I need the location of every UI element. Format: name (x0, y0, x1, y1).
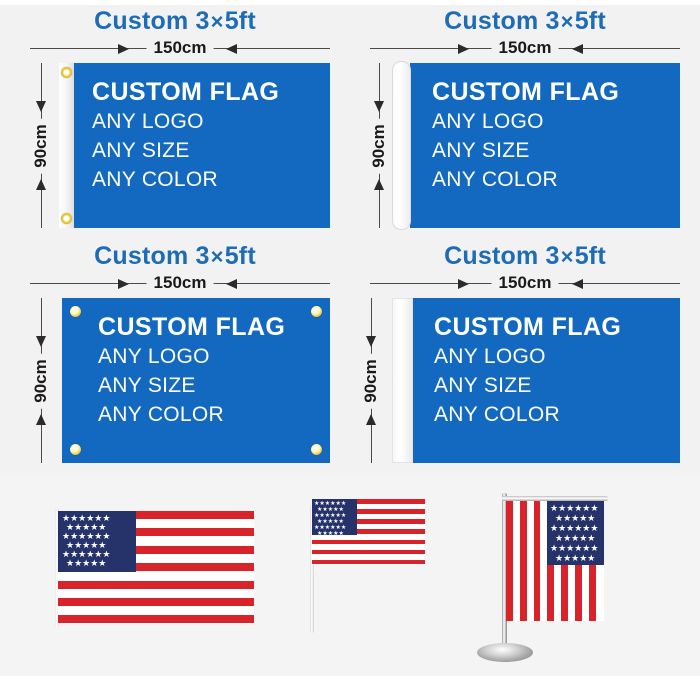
flag-spec-grid: Custom 3×5ft 150cm 90cm CUSTOM FLAG ANY … (0, 5, 700, 475)
panel-title: Custom 3×5ft (0, 242, 350, 271)
flag-line: ANY SIZE (434, 371, 672, 400)
svg-text:★★★★★: ★★★★★ (555, 533, 595, 543)
flag-line: ANY LOGO (432, 107, 672, 136)
grommet-icon (70, 444, 81, 455)
flag-line: ANY LOGO (98, 342, 322, 371)
grommet-icon (311, 444, 322, 455)
arrow-left-icon (572, 279, 583, 289)
width-label: 150cm (492, 38, 559, 57)
flag-line: ANY COLOR (432, 165, 672, 194)
width-dimension: 150cm (30, 38, 330, 58)
flag-line: ANY LOGO (92, 107, 322, 136)
width-dimension: 150cm (370, 38, 680, 58)
arrow-right-icon (118, 279, 129, 289)
flag-headline: CUSTOM FLAG (98, 312, 322, 342)
width-label: 150cm (147, 273, 214, 292)
panel-title-size: 5ft (225, 7, 256, 35)
flag-text-block: CUSTOM FLAG ANY LOGO ANY SIZE ANY COLOR (432, 77, 672, 194)
arrow-down-icon (36, 101, 46, 112)
flag-line: ANY COLOR (92, 165, 322, 194)
flag-text-block: CUSTOM FLAG ANY LOGO ANY SIZE ANY COLOR (92, 77, 322, 194)
product-photo-row: ★★★★★★ ★★★★★ ★★★★★★ ★★★★★ ★★★★★★ ★★★★★ (0, 475, 700, 676)
arrow-up-icon (366, 414, 376, 425)
panel-title-size: 5ft (575, 242, 606, 270)
width-label: 150cm (492, 273, 559, 292)
us-flag-hand-stick-icon: ★★★★★★ ★★★★★ ★★★★★★ ★★★★★ ★★★★★★ ★★★★★ (312, 499, 425, 565)
flag-line: ANY SIZE (432, 136, 672, 165)
us-flag-desk-stand-icon: ★★★★★★ ★★★★★ ★★★★★★ ★★★★★ ★★★★★★ ★★★★★ (506, 501, 604, 621)
flag-headline: CUSTOM FLAG (92, 77, 322, 107)
panel-title: Custom 3×5ft (0, 7, 350, 36)
flag-text-block: CUSTOM FLAG ANY LOGO ANY SIZE ANY COLOR (434, 312, 672, 429)
flag-line: ANY SIZE (92, 136, 322, 165)
svg-text:★★★★★★: ★★★★★★ (314, 512, 346, 519)
panel-title-text: Custom 3 (444, 7, 560, 35)
grommet-icon (70, 306, 81, 317)
flag-line: ANY LOGO (434, 342, 672, 371)
pole-sleeve (392, 61, 411, 230)
flag-hem (59, 63, 74, 228)
times-symbol: × (210, 9, 225, 34)
arrow-left-icon (572, 44, 583, 54)
width-dimension: 150cm (30, 273, 330, 293)
height-dimension: 90cm (30, 63, 52, 228)
width-label: 150cm (147, 38, 214, 57)
arrow-right-icon (458, 44, 469, 54)
flag-headline: CUSTOM FLAG (434, 312, 672, 342)
svg-text:★★★★★: ★★★★★ (317, 518, 344, 525)
photo-hand-flag: ★★★★★★ ★★★★★ ★★★★★★ ★★★★★ ★★★★★★ ★★★★★ (308, 487, 443, 637)
panel-top-left: Custom 3×5ft 150cm 90cm CUSTOM FLAG ANY … (0, 5, 350, 240)
times-symbol: × (560, 9, 575, 34)
arrow-down-icon (374, 101, 384, 112)
grommet-icon (61, 67, 72, 78)
svg-text:★★★★★: ★★★★★ (317, 506, 344, 513)
flag-line: ANY COLOR (98, 400, 322, 429)
height-label: 90cm (29, 353, 53, 408)
flag-text-block: CUSTOM FLAG ANY LOGO ANY SIZE ANY COLOR (98, 312, 322, 429)
arrow-up-icon (374, 179, 384, 190)
svg-text:★★★★★: ★★★★★ (555, 553, 595, 563)
arrow-up-icon (36, 179, 46, 190)
svg-text:★★★★★★: ★★★★★★ (550, 503, 598, 513)
flag-headline: CUSTOM FLAG (432, 77, 672, 107)
custom-flag-preview: CUSTOM FLAG ANY LOGO ANY SIZE ANY COLOR (62, 298, 330, 463)
svg-text:★★★★★★: ★★★★★★ (314, 500, 346, 507)
flag-line: ANY SIZE (98, 371, 322, 400)
arrow-right-icon (118, 44, 129, 54)
height-dimension: 90cm (30, 298, 52, 463)
panel-title-size: 5ft (575, 7, 606, 35)
flag-hem (392, 298, 413, 463)
custom-flag-preview: CUSTOM FLAG ANY LOGO ANY SIZE ANY COLOR (410, 63, 680, 228)
svg-text:★★★★★★: ★★★★★★ (550, 543, 598, 553)
arrow-down-icon (366, 336, 376, 347)
arrow-up-icon (36, 414, 46, 425)
arrow-left-icon (226, 44, 237, 54)
height-label: 90cm (29, 118, 53, 173)
height-label: 90cm (359, 353, 383, 408)
custom-flag-preview: CUSTOM FLAG ANY LOGO ANY SIZE ANY COLOR (412, 298, 680, 463)
svg-text:★★★★★★: ★★★★★★ (314, 524, 346, 531)
custom-flag-preview: CUSTOM FLAG ANY LOGO ANY SIZE ANY COLOR (59, 63, 330, 228)
us-flag-wall-mounted-icon: ★★★★★★ ★★★★★ ★★★★★★ ★★★★★ ★★★★★★ ★★★★★ (58, 511, 254, 624)
panel-title-text: Custom 3 (444, 242, 560, 270)
times-symbol: × (560, 244, 575, 269)
arrow-left-icon (226, 279, 237, 289)
svg-text:★★★★★★: ★★★★★★ (550, 523, 598, 533)
width-dimension: 150cm (370, 273, 680, 293)
panel-bottom-left: Custom 3×5ft 150cm 90cm CUSTOM FLAG ANY … (0, 240, 350, 475)
panel-title: Custom 3×5ft (350, 242, 700, 271)
arrow-down-icon (36, 336, 46, 347)
panel-bottom-right: Custom 3×5ft 150cm 90cm CUSTOM FLAG ANY … (350, 240, 700, 475)
svg-text:★★★★★: ★★★★★ (317, 530, 344, 535)
photo-wall-flag: ★★★★★★ ★★★★★ ★★★★★★ ★★★★★ ★★★★★★ ★★★★★ (58, 511, 254, 624)
times-symbol: × (210, 244, 225, 269)
svg-text:★★★★★: ★★★★★ (555, 513, 595, 523)
height-dimension: 90cm (360, 298, 382, 463)
desk-flag-base (477, 643, 533, 662)
height-dimension: 90cm (368, 63, 390, 228)
panel-title: Custom 3×5ft (350, 7, 700, 36)
panel-title-size: 5ft (225, 242, 256, 270)
arrow-right-icon (458, 279, 469, 289)
panel-title-text: Custom 3 (94, 7, 210, 35)
height-label: 90cm (367, 118, 391, 173)
grommet-icon (61, 213, 72, 224)
svg-text:★★★★★: ★★★★★ (66, 558, 106, 568)
panel-top-right: Custom 3×5ft 150cm 90cm CUSTOM FLAG ANY … (350, 5, 700, 240)
flag-line: ANY COLOR (434, 400, 672, 429)
panel-title-text: Custom 3 (94, 242, 210, 270)
photo-desk-flag: ★★★★★★ ★★★★★ ★★★★★★ ★★★★★ ★★★★★★ ★★★★★ (483, 483, 633, 671)
